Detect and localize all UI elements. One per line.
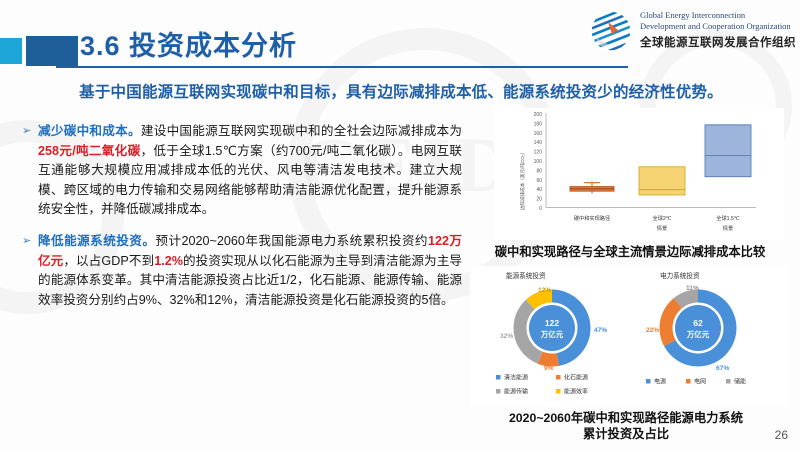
body-text-column: ➢ 减少碳中和成本。建设中国能源互联网实现碳中和的全社会边际减排成本为258元/…	[22, 122, 462, 322]
svg-text:化石能源: 化石能源	[564, 374, 588, 382]
svg-text:40: 40	[536, 187, 542, 193]
bullet-arrow-icon: ➢	[22, 232, 38, 310]
svg-text:能源效率: 能源效率	[564, 388, 588, 396]
donut-left-center-unit: 万亿元	[540, 330, 564, 339]
donut-left-title: 能源系统投资	[506, 271, 546, 280]
donut-left: 122 万亿元	[520, 296, 584, 360]
boxplot-ylabel: 边际减排成本（美元/吨CO₂）	[519, 150, 526, 210]
boxplot-box-3	[705, 125, 751, 177]
donut-left-label-9: 9%	[544, 365, 554, 372]
logo-en-line2: Development and Cooperation Organization	[640, 21, 796, 32]
donut-caption-line2: 累计投资及占比	[452, 426, 800, 442]
bullet-seg: 建设中国能源互联网实现碳中和的全社会边际减排成本为	[141, 124, 462, 138]
svg-text:200: 200	[534, 112, 543, 118]
bullet-lead: 降低能源系统投资。	[38, 234, 155, 248]
bullet-arrow-icon: ➢	[22, 122, 38, 220]
donut-caption-line1: 2020~2060年碳中和实现路径能源电力系统	[452, 410, 800, 426]
svg-text:储能: 储能	[734, 378, 746, 386]
svg-text:全球2℃: 全球2℃	[652, 214, 671, 222]
donut-left-center-value: 122	[545, 318, 560, 328]
svg-text:0: 0	[539, 206, 542, 212]
logo-text-block: Global Energy Interconnection Developmen…	[640, 10, 796, 50]
slide-root: GEIDCO 3.6 投资成本分析	[0, 0, 800, 450]
logo-cn-name: 全球能源互联网发展合作组织	[640, 34, 796, 50]
slide-subtitle: 基于中国能源互联网实现碳中和目标，具有边际减排成本低、能源系统投资少的经济性优势…	[16, 80, 786, 102]
page-title: 3.6 投资成本分析	[80, 24, 297, 63]
donut-charts: 能源系统投资 122 万亿元 47% 9% 32% 12% 电力系统投资	[470, 266, 788, 406]
svg-text:电源: 电源	[654, 378, 666, 386]
donut-right: 62 万亿元	[666, 296, 730, 360]
donut-right-title: 电力系统投资	[660, 271, 700, 280]
boxplot-caption: 碳中和实现路径与全球主流情景边际减排成本比较	[460, 244, 800, 260]
svg-text:140: 140	[534, 140, 543, 146]
bullet-lead: 减少碳中和成本。	[38, 124, 141, 138]
svg-text:全球1.5℃: 全球1.5℃	[716, 214, 740, 222]
bullet-seg-highlight: 1.2%	[154, 254, 183, 268]
bullet-seg: ，以占GDP不到	[63, 254, 154, 268]
bullet-seg-highlight: 258元/吨二氧化碳	[38, 144, 140, 158]
boxplot-box-2	[639, 167, 685, 195]
donut-left-label-47: 47%	[594, 327, 607, 334]
svg-text:120: 120	[534, 150, 543, 156]
svg-text:碳中和实现路径: 碳中和实现路径	[574, 214, 610, 222]
svg-text:80: 80	[536, 168, 542, 174]
title-accent-square-cyan	[0, 38, 22, 64]
svg-text:能源传输: 能源传输	[504, 388, 528, 396]
svg-text:电网: 电网	[694, 378, 706, 386]
donut-right-label-67: 67%	[716, 365, 729, 372]
bullet-item: ➢ 降低能源系统投资。预计2020~2060年我国能源电力系统累积投资约122万…	[22, 232, 462, 310]
logo-en-line1: Global Energy Interconnection	[640, 10, 796, 21]
bullet-seg: 预计2020~2060年我国能源电力系统累积投资约	[155, 234, 428, 248]
donut-right-label-11: 11%	[686, 285, 699, 292]
donut-caption: 2020~2060年碳中和实现路径能源电力系统 累计投资及占比	[452, 410, 800, 442]
bullet-text: 降低能源系统投资。预计2020~2060年我国能源电力系统累积投资约122万亿元…	[38, 232, 462, 310]
donut-right-center-value: 62	[693, 318, 703, 328]
title-accent-square-blue	[26, 36, 78, 66]
svg-text:100: 100	[534, 159, 543, 165]
donut-left-label-12: 12%	[538, 287, 551, 294]
svg-text:60: 60	[536, 178, 542, 184]
svg-text:清洁能源: 清洁能源	[504, 374, 528, 382]
title-underline	[56, 66, 628, 68]
svg-text:20: 20	[536, 197, 542, 203]
donut-left-label-32: 32%	[500, 333, 513, 340]
svg-text:情景: 情景	[657, 224, 667, 232]
svg-text:160: 160	[534, 131, 543, 137]
page-number: 26	[775, 428, 788, 442]
boxplot-chart: 边际减排成本（美元/吨CO₂） 200 180 160 140 120 100 …	[494, 108, 784, 240]
bullet-item: ➢ 减少碳中和成本。建设中国能源互联网实现碳中和的全社会边际减排成本为258元/…	[22, 122, 462, 220]
donut-right-center-unit: 万亿元	[686, 330, 710, 339]
globe-logo-icon	[588, 8, 634, 54]
svg-text:情景: 情景	[723, 224, 733, 232]
donut-right-label-22: 22%	[646, 327, 659, 334]
bullet-text: 减少碳中和成本。建设中国能源互联网实现碳中和的全社会边际减排成本为258元/吨二…	[38, 122, 462, 220]
svg-text:180: 180	[534, 121, 543, 127]
